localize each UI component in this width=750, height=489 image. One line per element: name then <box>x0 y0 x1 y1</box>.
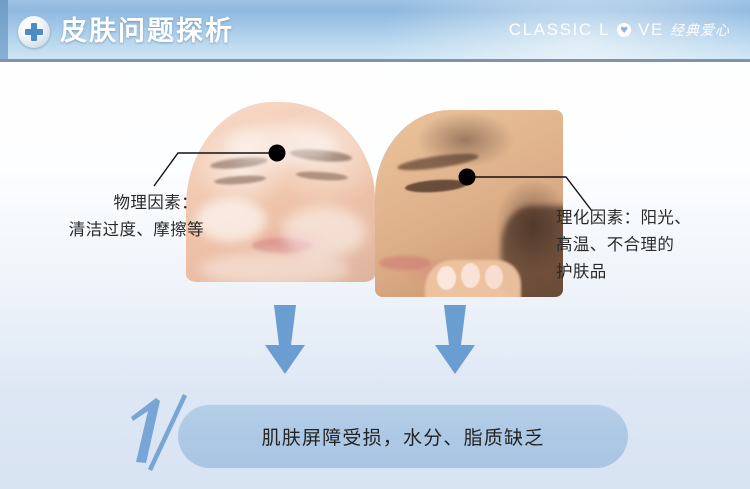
photo-group <box>186 98 566 298</box>
conclusion-banner: 肌肤屏障受损，水分、脂质缺乏 <box>178 404 628 468</box>
eye-shade <box>296 170 348 182</box>
annotation-left: 物理因素： 清洁过度、摩擦等 <box>14 190 204 244</box>
poster-root: 皮肤问题探析 CLASSIC L VE 经典爱心 <box>0 0 750 489</box>
medical-cross-icon <box>18 16 50 48</box>
brand-en-part1: CLASSIC L <box>509 20 610 40</box>
eye-shade <box>405 178 468 194</box>
brand-en-part2: VE <box>638 20 664 40</box>
page-header: 皮肤问题探析 CLASSIC L VE 经典爱心 <box>0 0 750 62</box>
fingernail <box>437 266 456 290</box>
annotation-left-line2: 清洁过度、摩擦等 <box>14 217 204 244</box>
annotation-right-line2: 高温、不合理的 <box>556 232 691 259</box>
cross-horizontal-bar <box>25 29 43 35</box>
eye-shade <box>214 174 266 186</box>
decorative-numeral-one <box>131 395 185 470</box>
down-arrow-right <box>435 305 475 374</box>
annotation-left-line1: 物理因素： <box>14 190 204 217</box>
foam-highlight <box>226 124 336 164</box>
heart-globe-icon <box>617 23 631 37</box>
page-title: 皮肤问题探析 <box>60 10 234 52</box>
hand-shape <box>425 260 521 297</box>
eyebrow-shade <box>397 150 480 173</box>
down-arrow-left <box>265 305 305 374</box>
photo-face-with-cleansing-foam <box>186 102 375 282</box>
photo-face-touching-cheek <box>375 110 563 297</box>
brand-cn-name: 经典爱心 <box>670 20 730 40</box>
eyebrow-shade <box>210 155 269 171</box>
brand-logo: CLASSIC L VE 经典爱心 <box>509 20 730 40</box>
foam-highlight <box>200 252 350 282</box>
conclusion-text: 肌肤屏障受损，水分、脂质缺乏 <box>262 423 545 450</box>
lip-shade <box>379 256 431 270</box>
fingernail <box>485 265 503 289</box>
eyebrow-shade <box>290 147 353 163</box>
annotation-right-line3: 护肤品 <box>556 259 691 286</box>
foam-highlight <box>282 206 366 258</box>
fingernail <box>461 263 480 288</box>
hair-shade <box>501 206 563 297</box>
lip-shade <box>252 238 312 253</box>
foam-highlight <box>196 198 266 242</box>
annotation-right: 理化因素：阳光、 高温、不合理的 护肤品 <box>556 205 691 286</box>
annotation-right-line1: 理化因素：阳光、 <box>556 205 691 232</box>
